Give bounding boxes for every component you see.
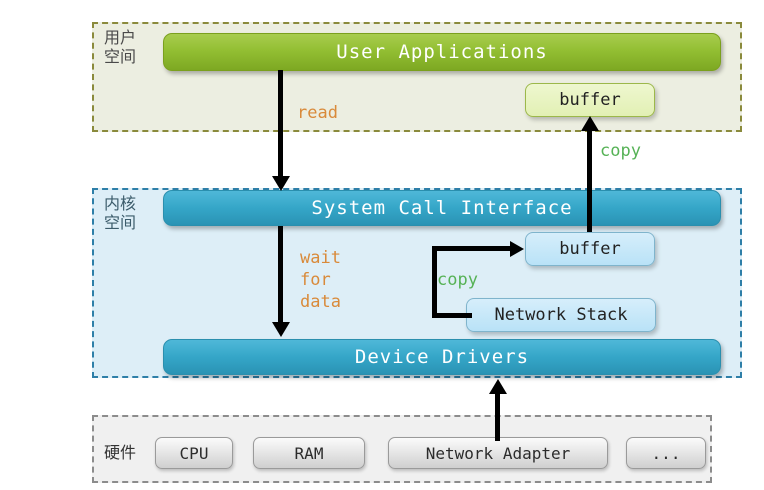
hardware-item-ellipsis[interactable]: ... xyxy=(626,437,706,469)
copy-kernel-to-user-arrow-shaft xyxy=(587,130,592,232)
diagram-canvas: 用户 空间 User Applications buffer 内核 空间 Sys… xyxy=(0,0,764,490)
hardware-item-network-adapter[interactable]: Network Adapter xyxy=(388,437,608,469)
hardware-item-ram[interactable]: RAM xyxy=(253,437,365,469)
network-stack-node[interactable]: Network Stack xyxy=(466,298,656,332)
kernel-space-buffer-node[interactable]: buffer xyxy=(525,232,655,266)
copy-kernel-to-user-edge-label: copy xyxy=(600,140,641,162)
user-space-buffer-node[interactable]: buffer xyxy=(525,83,655,117)
network-adapter-to-drivers-arrow-head xyxy=(489,379,507,394)
user-space-label: 用户 空间 xyxy=(104,28,136,66)
copy-stack-to-buffer-edge-label: copy xyxy=(437,269,478,291)
copy-stack-elbow-top xyxy=(432,246,510,251)
wait-for-data-arrow-shaft xyxy=(278,226,283,324)
system-call-interface-bar[interactable]: System Call Interface xyxy=(163,190,721,226)
hardware-label: 硬件 xyxy=(104,443,136,462)
copy-stack-elbow-bottom xyxy=(432,313,472,318)
copy-stack-to-buffer-arrow-head xyxy=(510,241,524,257)
copy-kernel-to-user-arrow-head xyxy=(581,116,599,131)
network-adapter-to-drivers-arrow-shaft xyxy=(495,393,500,441)
hardware-item-cpu[interactable]: CPU xyxy=(155,437,233,469)
wait-for-data-edge-label: wait for data xyxy=(300,247,341,313)
kernel-space-label: 内核 空间 xyxy=(104,194,136,232)
read-arrow-head xyxy=(272,176,290,191)
wait-for-data-arrow-head xyxy=(272,322,290,337)
read-arrow-shaft xyxy=(278,70,283,178)
user-applications-bar[interactable]: User Applications xyxy=(163,33,721,71)
device-drivers-bar[interactable]: Device Drivers xyxy=(163,339,721,375)
read-edge-label: read xyxy=(297,102,338,124)
